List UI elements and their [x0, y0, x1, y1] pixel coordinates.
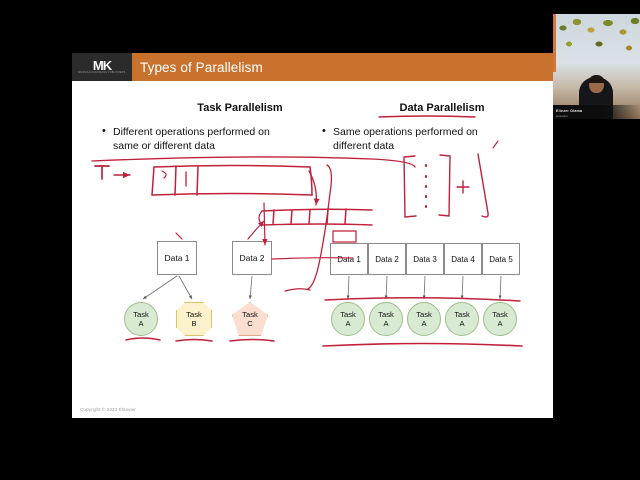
presentation-slide: MK MORGAN KAUFMANN PUBLISHERS Types of P…	[72, 53, 553, 418]
screen-recording-frame: MK MORGAN KAUFMANN PUBLISHERS Types of P…	[0, 0, 640, 480]
ink-cell-divider	[273, 210, 274, 224]
ink-tick	[493, 141, 498, 148]
ink-row2-bottom	[262, 224, 372, 225]
presenter-name-label: Eliezer Olama	[556, 109, 582, 113]
ink-line-above-tasks	[325, 298, 520, 301]
ink-tick	[176, 233, 182, 239]
ink-cell-divider	[175, 166, 176, 195]
ink-cell-divider	[345, 209, 346, 224]
ink-row2-top	[262, 209, 372, 211]
ink-underline-task	[230, 340, 274, 342]
ink-arrow	[248, 221, 264, 239]
ink-cell-divider	[309, 210, 310, 224]
ink-small-box	[333, 231, 356, 242]
ink-cell-divider	[291, 210, 292, 224]
ink-queue-top	[154, 166, 310, 168]
ink-queue-bottom	[152, 194, 312, 196]
ink-bracket-single	[478, 154, 488, 217]
ink-cell-divider	[197, 166, 198, 195]
ink-underline-task	[176, 340, 212, 342]
ink-line-below-tasks	[323, 344, 522, 347]
ink-annotation-group	[92, 116, 522, 346]
ink-line	[272, 258, 353, 259]
webcam-foliage	[553, 14, 640, 74]
ink-bracket-close	[439, 155, 450, 216]
ink-arrow	[264, 203, 265, 245]
presenter-webcam-tile[interactable]: Eliezer Olama presenter	[553, 14, 640, 119]
presenter-hair	[588, 75, 605, 83]
webcam-accent-bar	[553, 14, 556, 72]
ink-underline-task	[126, 338, 160, 340]
slide-footer-copyright: Copyright © 2022 Elsevier	[80, 407, 136, 412]
ink-underline-heading	[379, 116, 475, 117]
ink-bracket-open	[404, 156, 416, 217]
task-connector	[143, 276, 252, 299]
diagram-overlay	[72, 53, 553, 418]
ink-queue-left	[152, 167, 154, 195]
ink-hook	[162, 171, 166, 178]
ink-loop-foot	[285, 289, 310, 291]
ink-arrow	[309, 171, 316, 205]
ink-plus-sign	[457, 181, 469, 193]
presenter-role-label: presenter	[556, 115, 568, 118]
ink-queue-right	[310, 167, 312, 195]
ink-thread-label	[95, 166, 109, 179]
task-connector	[348, 276, 501, 299]
